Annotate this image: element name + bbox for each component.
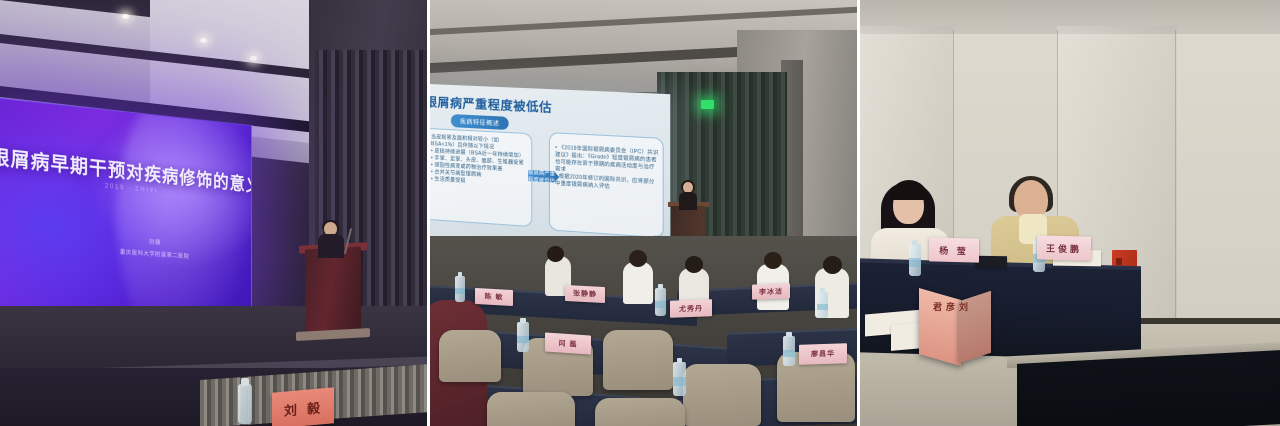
tablet-device bbox=[975, 256, 1007, 269]
chair bbox=[439, 330, 501, 382]
name-card: 陈 敏 bbox=[475, 288, 513, 306]
wall-seam bbox=[1175, 30, 1176, 330]
speaker-person bbox=[318, 222, 344, 256]
slide-pill-label: 疾病特征概述 bbox=[451, 114, 509, 130]
name-card-char-2: 毅 bbox=[307, 397, 322, 417]
slide-box-right-text: • 《2019年国际银屑病委员会（IPC）共识 建议》提出：《Grade》轻度银… bbox=[555, 145, 659, 194]
name-card: 刘 毅 bbox=[272, 387, 334, 426]
downlight-icon bbox=[200, 38, 207, 43]
exit-sign-icon bbox=[701, 100, 714, 109]
panel-divider bbox=[857, 0, 860, 426]
audience-head bbox=[685, 256, 703, 273]
audience-head bbox=[764, 252, 782, 269]
tent-card-text: 刘彦君 bbox=[931, 302, 970, 313]
audience-head bbox=[823, 256, 842, 274]
chair bbox=[603, 330, 673, 390]
podium bbox=[305, 247, 361, 336]
audience-head bbox=[629, 250, 647, 267]
chair bbox=[487, 392, 575, 426]
audience-head bbox=[547, 246, 564, 262]
downlight-icon bbox=[250, 56, 257, 61]
water-bottle bbox=[817, 292, 828, 318]
name-card-char-1: 刘 bbox=[284, 399, 299, 419]
presenter-person bbox=[679, 182, 697, 208]
panel-auditorium: 银屑病早期干预对疾病修饰的意义 2019 · ZHIYI 刘娜 重庆医科大学附属… bbox=[0, 0, 427, 426]
downlight-icon bbox=[122, 14, 129, 19]
panel-head-table: 杨 莹 王俊鹏 刘彦君 bbox=[857, 0, 1280, 426]
name-card: 尤秀丹 bbox=[670, 299, 712, 317]
panel-divider bbox=[427, 0, 430, 426]
slide-swoosh-graphic bbox=[116, 96, 251, 310]
name-card-panelist-right: 王俊鹏 bbox=[1037, 235, 1091, 260]
projection-screen: 银屑病早期干预对疾病修饰的意义 2019 · ZHIYI 刘娜 重庆医科大学附属… bbox=[0, 96, 252, 310]
chair bbox=[683, 364, 761, 426]
name-card: 廖昌华 bbox=[799, 343, 847, 365]
water-bottle bbox=[783, 336, 795, 366]
name-card: 张静静 bbox=[565, 285, 605, 303]
name-card: 闫 磊 bbox=[545, 332, 591, 354]
water-bottle bbox=[673, 362, 686, 396]
water-bottle bbox=[909, 244, 921, 276]
water-bottle bbox=[238, 384, 252, 424]
photo-collage: 银屑病早期干预对疾病修饰的意义 2019 · ZHIYI 刘娜 重庆医科大学附属… bbox=[0, 0, 1280, 426]
name-card: 李冰洁 bbox=[752, 283, 790, 299]
panel-conference-room: 银屑病严重程度被低估 疾病特征概述 当皮损累及面积相对较小（如 BSA<1%）且… bbox=[427, 0, 857, 426]
water-bottle bbox=[517, 322, 529, 352]
chair bbox=[595, 398, 685, 426]
water-bottle bbox=[455, 276, 465, 302]
water-bottle bbox=[655, 288, 666, 316]
slide-title: 银屑病严重程度被低估 bbox=[429, 93, 552, 116]
projection-screen: 银屑病严重程度被低估 疾病特征概述 当皮损累及面积相对较小（如 BSA<1%）且… bbox=[429, 84, 670, 253]
name-card-panelist-left: 杨 莹 bbox=[929, 237, 979, 262]
slide-box-left-text: 当皮损累及面积相对较小（如 BSA<1%）且伴随以下情况 • 皮损持续进展（BS… bbox=[431, 134, 536, 190]
audience-person bbox=[623, 262, 653, 304]
